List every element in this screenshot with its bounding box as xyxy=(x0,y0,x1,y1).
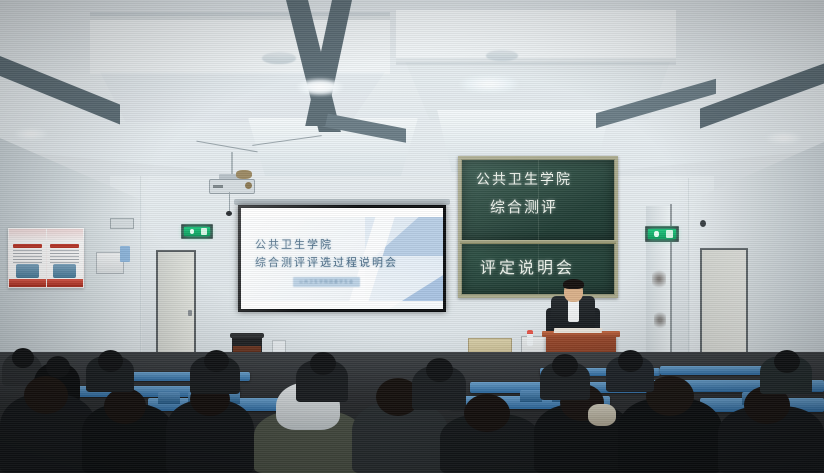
blackboard-lower-panel: 评定说明会 xyxy=(462,244,614,294)
projector-pole xyxy=(231,152,233,176)
slide-title-line-1: 公共卫生学院 xyxy=(255,236,333,252)
exit-sign-left-panel xyxy=(184,227,210,236)
exit-door-icon-left xyxy=(201,228,208,235)
poster-panel-left xyxy=(9,229,46,287)
audience-head-8 xyxy=(426,358,453,382)
audience-head-4 xyxy=(104,388,146,424)
blackboard: 公共卫生学院 综合测评 评定说明会 xyxy=(458,156,618,298)
poster-footer-left xyxy=(9,279,46,287)
projector-cables xyxy=(236,170,252,179)
wall-corner-left xyxy=(140,176,141,362)
poster-image-left xyxy=(16,264,39,278)
audience-head-15 xyxy=(774,350,800,373)
wall-stain-upper xyxy=(652,268,666,290)
blackboard-text-line-1: 公共卫生学院 xyxy=(476,169,572,189)
poster-header-left xyxy=(9,229,46,242)
blackboard-text-line-2: 综合测评 xyxy=(490,196,558,217)
ceiling xyxy=(0,0,824,200)
slide-top-margin xyxy=(241,208,443,217)
running-man-icon-right xyxy=(654,231,658,237)
blackboard-lower-seam xyxy=(538,244,539,294)
speaker-shirt xyxy=(568,300,579,322)
wall-stain-lower xyxy=(654,310,666,330)
audience-head-7 xyxy=(310,352,336,375)
ceiling-dome-right xyxy=(486,50,518,61)
wall-poster xyxy=(8,228,84,288)
audience-scarf xyxy=(588,404,616,426)
lecture-hall-photo: 公共卫生学院 综合测评评选过程说明会 公共卫生学院团委学生会 公共卫生学院 综合… xyxy=(0,0,824,473)
wall-corner-right xyxy=(688,178,689,362)
cord-weight xyxy=(226,211,232,216)
poster-text-left xyxy=(13,250,42,263)
audience-head-9 xyxy=(464,394,510,432)
audience-head-13 xyxy=(552,354,578,377)
poster-image-right xyxy=(53,264,76,278)
trash-bin-rim xyxy=(230,333,264,338)
audience-head-1 xyxy=(12,348,34,368)
wall-notice-blue xyxy=(120,246,130,262)
exit-sign-right-panel xyxy=(648,229,676,239)
blackboard-upper-seam xyxy=(538,160,539,240)
ceiling-soffit-left xyxy=(100,72,385,122)
poster-title-right xyxy=(50,244,79,247)
podium-papers xyxy=(554,328,603,333)
ceiling-light-3 xyxy=(14,128,48,140)
audience-head-14 xyxy=(618,350,643,372)
exit-sign-right xyxy=(645,226,679,242)
blackboard-upper-panel: 公共卫生学院 综合测评 xyxy=(462,160,614,240)
projection-screen: 公共卫生学院 综合测评评选过程说明会 公共卫生学院团委学生会 xyxy=(238,205,446,312)
audience-head-16 xyxy=(98,350,123,372)
ceiling-light-2 xyxy=(460,76,518,92)
ceiling-light-1 xyxy=(296,78,344,96)
slide-content: 公共卫生学院 综合测评评选过程说明会 公共卫生学院团委学生会 xyxy=(241,208,443,309)
wall-sensor-right xyxy=(700,220,706,227)
slide-bottom-margin xyxy=(241,301,443,309)
exit-door-icon-right xyxy=(666,230,673,237)
poster-panel-right xyxy=(47,229,84,287)
slide-subtitle: 公共卫生学院团委学生会 xyxy=(293,277,360,287)
water-bottle xyxy=(527,330,533,346)
wall-speaker-left xyxy=(110,218,134,229)
ceiling-dome-left xyxy=(262,52,296,64)
audience-head-3 xyxy=(24,376,68,414)
slide-title-line-2: 综合测评评选过程说明会 xyxy=(255,254,398,270)
seat-back-1[interactable] xyxy=(158,392,180,404)
door-left[interactable] xyxy=(156,250,196,362)
poster-footer-right xyxy=(47,279,84,287)
audience-head-17 xyxy=(204,350,229,372)
ceiling-beam-far-right xyxy=(700,62,824,129)
poster-text-right xyxy=(50,250,79,263)
exit-sign-left xyxy=(181,224,213,239)
speaker-hair xyxy=(563,279,584,289)
door-right[interactable] xyxy=(700,248,748,362)
projector-label xyxy=(213,185,223,188)
projector-lens xyxy=(245,182,252,189)
projector-hanging-cord xyxy=(229,192,230,212)
seat-back-4[interactable] xyxy=(520,390,542,402)
poster-header-right xyxy=(47,229,84,242)
audience-head-2 xyxy=(46,356,70,378)
door-knob-left[interactable] xyxy=(188,310,192,316)
blackboard-text-line-3: 评定说明会 xyxy=(480,254,575,278)
ceiling-light-4 xyxy=(766,132,802,144)
poster-title-left xyxy=(13,244,42,247)
ceiling-panel-right xyxy=(396,10,676,62)
running-man-icon-left xyxy=(190,229,194,235)
